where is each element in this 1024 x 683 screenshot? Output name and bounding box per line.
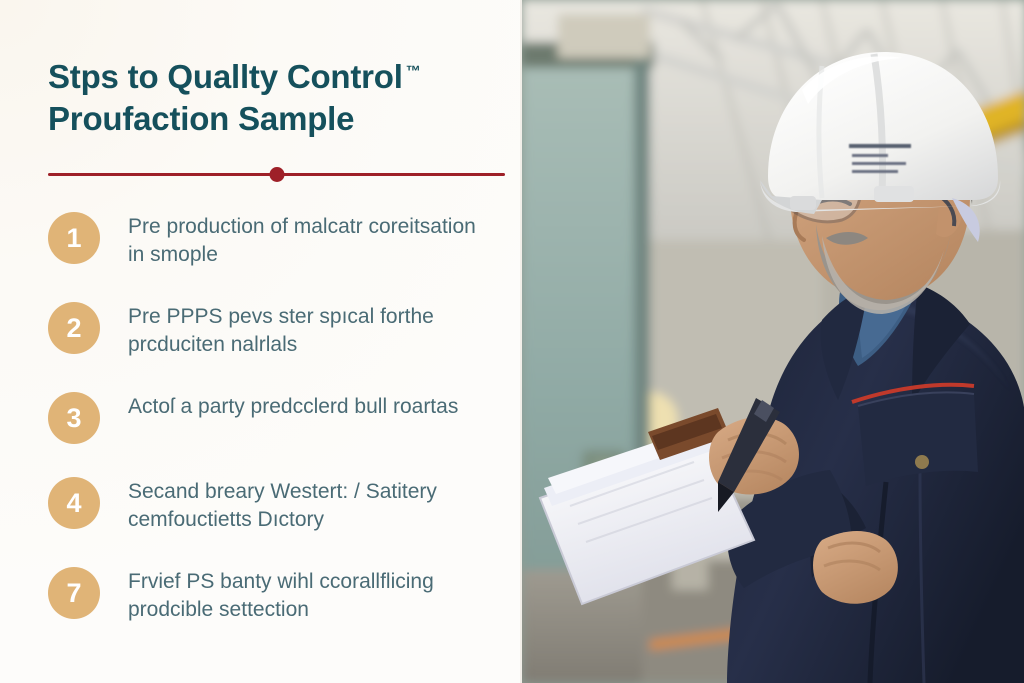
list-item: 3 Actoſ a party predcclerd bull roartas [48,390,496,444]
step-number-badge: 7 [48,567,100,619]
step-description: Secand breary Westert: / Satitery cemfou… [128,475,496,534]
page-title-line1: Stps to Quallty Control [48,58,403,95]
page-title: Stps to Quallty Control™ Proufaction Sam… [48,56,488,140]
worker-photo [520,0,1024,683]
step-number-badge: 3 [48,392,100,444]
page-title-line2: Proufaction Sample [48,100,354,137]
infographic-slide: Stps to Quallty Control™ Proufaction Sam… [0,0,1024,683]
content-panel: Stps to Quallty Control™ Proufaction Sam… [0,0,520,683]
step-number-badge: 4 [48,477,100,529]
pocket-button [915,455,929,469]
trademark-symbol: ™ [406,63,421,80]
step-description: Frvief PS banty wihl ccorallflicing prod… [128,565,496,624]
list-item: 2 Pre PPPS pevs ster spıcal forthe prcdu… [48,300,496,359]
list-item: 4 Secand breary Westert: / Satitery cemf… [48,475,496,534]
step-description: Pre production of malcatr coreitsation i… [128,210,496,269]
worker-photo-illustration [522,0,1024,683]
step-number-badge: 2 [48,302,100,354]
step-description: Pre PPPS pevs ster spıcal forthe prcduci… [128,300,496,359]
title-divider [48,166,505,182]
list-item: 7 Frvief PS banty wihl ccorallflicing pr… [48,565,496,624]
step-number-badge: 1 [48,212,100,264]
steps-list: 1 Pre production of malcatr coreitsation… [48,210,496,623]
divider-dot [269,167,284,182]
step-description: Actoſ a party predcclerd bull roartas [128,390,458,421]
list-item: 1 Pre production of malcatr coreitsation… [48,210,496,269]
